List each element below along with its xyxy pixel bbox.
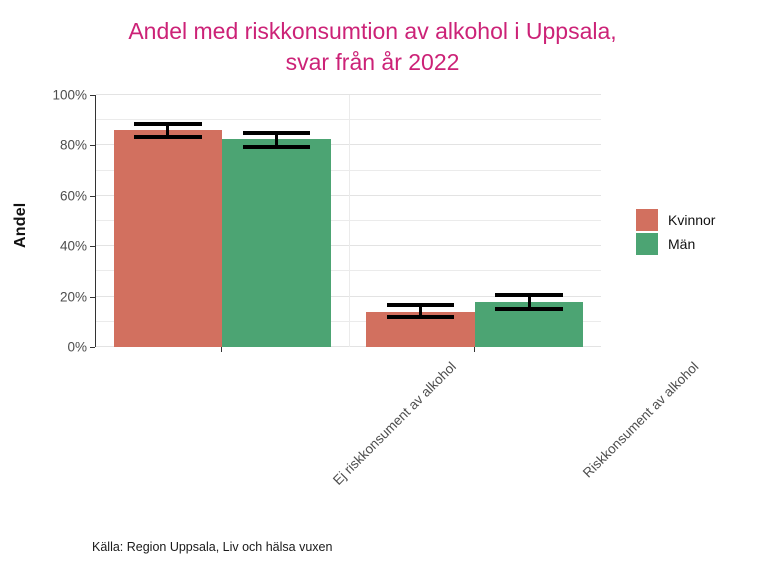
error-bar-cap-upper <box>134 122 201 126</box>
y-tick-label: 100% <box>35 88 87 103</box>
category-separator <box>349 95 350 347</box>
error-bar-cap-upper <box>387 303 454 307</box>
x-tick-mark <box>221 347 222 352</box>
error-bar <box>387 305 454 316</box>
error-bar-cap-lower <box>495 307 562 311</box>
legend-label-man: Män <box>668 236 695 252</box>
y-tick-mark <box>90 347 95 348</box>
legend-swatch-man <box>636 233 658 255</box>
x-tick-mark <box>474 347 475 352</box>
legend-item-man[interactable]: Män <box>636 232 715 256</box>
error-bar-cap-upper <box>495 293 562 297</box>
y-tick-label: 80% <box>35 138 87 153</box>
plot-area <box>95 95 601 347</box>
chart-figure: Andel med riskkonsumtion av alkohol i Up… <box>0 0 768 576</box>
legend: Kvinnor Män <box>636 208 715 256</box>
y-tick-mark <box>90 145 95 146</box>
y-tick-label: 0% <box>35 340 87 355</box>
x-tick-label: Ej riskkonsument av alkohol <box>330 359 459 488</box>
error-bar-cap-lower <box>243 145 310 149</box>
bar-man[interactable] <box>222 139 331 347</box>
y-axis-title: Andel <box>6 180 36 270</box>
x-tick-label: Riskkonsument av alkohol <box>580 359 702 481</box>
error-bar <box>495 295 562 309</box>
y-tick-mark <box>90 297 95 298</box>
legend-label-kvinnor: Kvinnor <box>668 212 715 228</box>
y-tick-label: 60% <box>35 188 87 203</box>
legend-swatch-kvinnor <box>636 209 658 231</box>
error-bar-cap-upper <box>243 131 310 135</box>
error-bar-cap-lower <box>387 315 454 319</box>
chart-title: Andel med riskkonsumtion av alkohol i Up… <box>0 16 745 78</box>
source-caption: Källa: Region Uppsala, Liv och hälsa vux… <box>92 540 332 554</box>
y-tick-mark <box>90 95 95 96</box>
y-tick-mark <box>90 196 95 197</box>
error-bar <box>134 124 201 137</box>
y-tick-label: 40% <box>35 239 87 254</box>
error-bar <box>243 133 310 147</box>
bar-kvinnor[interactable] <box>114 130 223 347</box>
legend-item-kvinnor[interactable]: Kvinnor <box>636 208 715 232</box>
y-tick-label: 20% <box>35 289 87 304</box>
error-bar-cap-lower <box>134 135 201 139</box>
y-tick-mark <box>90 246 95 247</box>
